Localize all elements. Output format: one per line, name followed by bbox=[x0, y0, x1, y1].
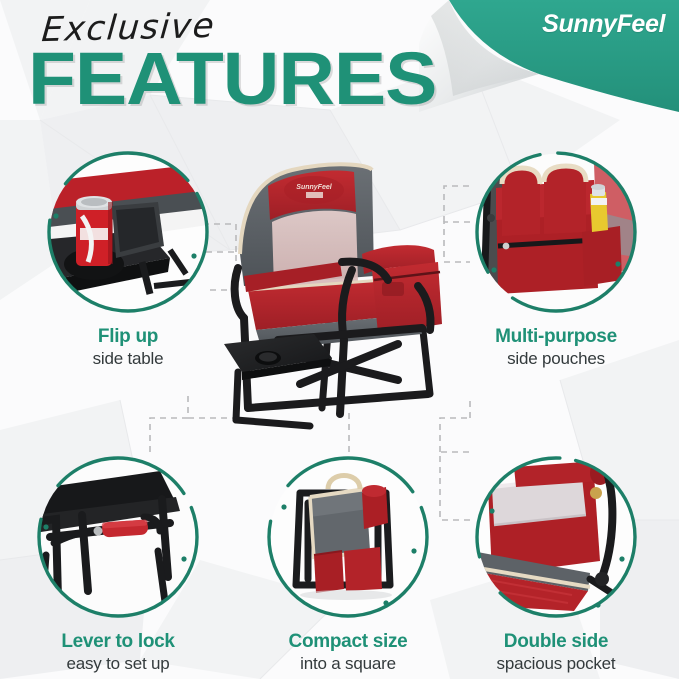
feature-caption-lever-to-lock: Lever to lock easy to set up bbox=[32, 631, 204, 674]
title-main-line: FEATURES bbox=[28, 50, 436, 108]
feature-image-flip-up bbox=[42, 146, 214, 318]
feature-subtitle: easy to set up bbox=[32, 654, 204, 674]
feature-compact-size: Compact size into a square bbox=[262, 451, 434, 674]
soda-can bbox=[76, 196, 113, 266]
double-side-scene bbox=[478, 459, 634, 615]
red-lever-grip bbox=[101, 519, 148, 537]
feature-image-double-side bbox=[470, 451, 642, 623]
feature-caption-double-side: Double side spacious pocket bbox=[470, 631, 642, 674]
page-title: Exclusive FEATURES bbox=[28, 8, 413, 108]
pouch-flap-left bbox=[502, 168, 540, 236]
feature-lever-to-lock: Lever to lock easy to set up bbox=[32, 451, 204, 674]
flip-up-scene bbox=[50, 154, 206, 310]
feature-subtitle: spacious pocket bbox=[470, 654, 642, 674]
feature-caption-multi-purpose: Multi-purpose side pouches bbox=[470, 326, 642, 369]
feature-flip-up: Flip up side table bbox=[42, 146, 214, 369]
feature-caption-flip-up: Flip up side table bbox=[42, 326, 214, 369]
feature-double-side: Double side spacious pocket bbox=[470, 451, 642, 674]
feature-title: Compact size bbox=[262, 631, 434, 653]
feature-image-multi-purpose bbox=[470, 146, 642, 318]
feature-subtitle: side table bbox=[42, 349, 214, 369]
pouch-right bbox=[344, 547, 382, 591]
feature-title: Multi-purpose bbox=[470, 326, 642, 348]
connector-lever bbox=[150, 392, 188, 452]
lever-scene bbox=[40, 459, 196, 615]
feature-image-compact-size bbox=[262, 451, 434, 623]
svg-text:SunnyFeel: SunnyFeel bbox=[296, 184, 332, 191]
pouches-scene bbox=[478, 154, 634, 310]
feature-multi-purpose: Multi-purpose side pouches bbox=[470, 146, 642, 369]
connector-double-side bbox=[440, 452, 470, 520]
feature-title: Double side bbox=[470, 631, 642, 653]
feature-title: Lever to lock bbox=[32, 631, 204, 653]
pouch-flap-right bbox=[544, 166, 586, 234]
compact-scene bbox=[270, 459, 426, 615]
feature-subtitle: into a square bbox=[262, 654, 434, 674]
brand-logo: SunnyFeel bbox=[542, 10, 665, 39]
infographic-page: SunnyFeel Exclusive FEATURES bbox=[0, 0, 679, 679]
feature-caption-compact-size: Compact size into a square bbox=[262, 631, 434, 674]
feature-subtitle: side pouches bbox=[470, 349, 642, 369]
feature-title: Flip up bbox=[42, 326, 214, 348]
product-chair-image: SunnyFeel bbox=[222, 158, 462, 433]
feature-image-lever-to-lock bbox=[32, 451, 204, 623]
pouch-left bbox=[314, 551, 344, 593]
